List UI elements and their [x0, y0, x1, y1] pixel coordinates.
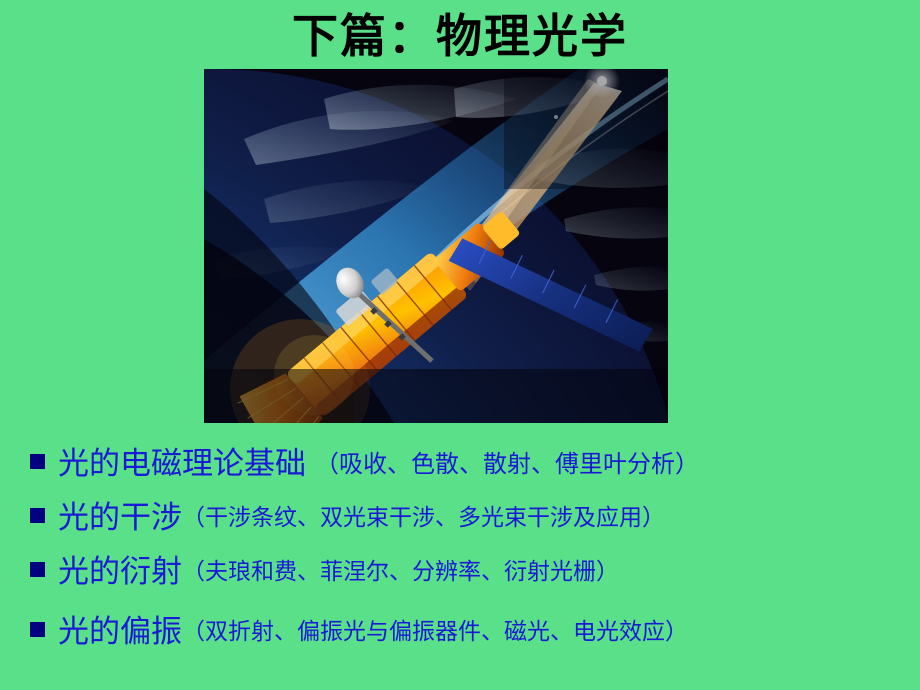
- topic-list: 光的电磁理论基础（吸收、色散、散射、傅里叶分析） 光的干涉（干涉条纹、双光束干涉…: [0, 440, 920, 690]
- topic-title: 光的衍射: [58, 554, 182, 590]
- bottom-vignette: [204, 369, 668, 423]
- topic-subtitle: （吸收、色散、散射、傅里叶分析）: [315, 450, 699, 478]
- topic-subtitle: （夫琅和费、菲涅尔、分辨率、衍射光栅）: [182, 559, 619, 585]
- satellite-over-earth-image: [204, 69, 668, 423]
- topic-subtitle: （干涉条纹、双光束干涉、多光束干涉及应用）: [182, 505, 665, 531]
- list-item[interactable]: 光的电磁理论基础（吸收、色散、散射、傅里叶分析）: [30, 444, 910, 484]
- page-title: 下篇：物理光学: [0, 8, 920, 64]
- satellite-illustration-svg: [204, 69, 668, 423]
- top-right-vignette: [504, 69, 668, 189]
- square-bullet-icon: [30, 562, 45, 577]
- topic-title: 光的电磁理论基础: [58, 446, 306, 482]
- topic-title: 光的偏振: [58, 614, 182, 650]
- square-bullet-icon: [30, 454, 45, 469]
- square-bullet-icon: [30, 622, 45, 637]
- square-bullet-icon: [30, 508, 45, 523]
- list-item[interactable]: 光的偏振（双折射、偏振光与偏振器件、磁光、电光效应）: [30, 612, 910, 652]
- list-item[interactable]: 光的衍射（夫琅和费、菲涅尔、分辨率、衍射光栅）: [30, 552, 910, 592]
- list-item[interactable]: 光的干涉（干涉条纹、双光束干涉、多光束干涉及应用）: [30, 498, 910, 538]
- topic-title: 光的干涉: [58, 500, 182, 536]
- topic-subtitle: （双折射、偏振光与偏振器件、磁光、电光效应）: [182, 619, 688, 645]
